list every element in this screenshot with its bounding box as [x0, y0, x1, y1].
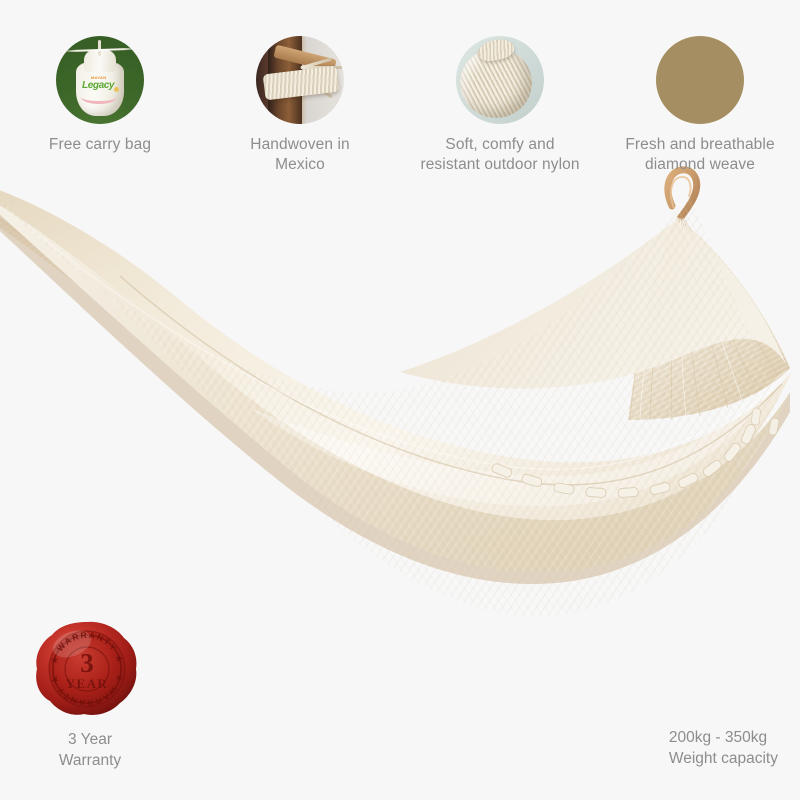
seal-center-word: YEAR [66, 676, 109, 691]
seal-center-number: 3 [80, 648, 94, 678]
feature-item-diamond-weave: Fresh and breathable diamond weave [600, 0, 800, 185]
feature-label-nylon: Soft, comfy and resistant outdoor nylon [420, 135, 579, 175]
feature-label-carry-bag: Free carry bag [49, 135, 151, 155]
feature-label-diamond-weave: Fresh and breathable diamond weave [625, 135, 774, 175]
wax-seal-icon: ★ WARRANTY ★ ★ WARRANTY ★ 3 YEAR [32, 618, 142, 718]
drawstring-bag-icon: MAYAN Legacy [56, 36, 144, 124]
warranty-caption: 3 Year Warranty [20, 729, 160, 771]
product-feature-image: MAYAN Legacy Free carry bag Handwoven in… [0, 0, 800, 800]
capacity-caption: 200kg - 350kg Weight capacity [669, 727, 778, 769]
rope-knot-icon [256, 36, 344, 124]
feature-label-handwoven: Handwoven in Mexico [250, 135, 349, 175]
hammock-body [0, 150, 800, 670]
feature-badges: MAYAN Legacy Free carry bag Handwoven in… [0, 0, 800, 185]
feature-item-nylon: Soft, comfy and resistant outdoor nylon [400, 0, 600, 185]
feature-item-carry-bag: MAYAN Legacy Free carry bag [0, 0, 200, 185]
twine-ball-icon [456, 36, 544, 124]
diamond-weave-icon [656, 36, 744, 124]
feature-item-handwoven: Handwoven in Mexico [200, 0, 400, 185]
